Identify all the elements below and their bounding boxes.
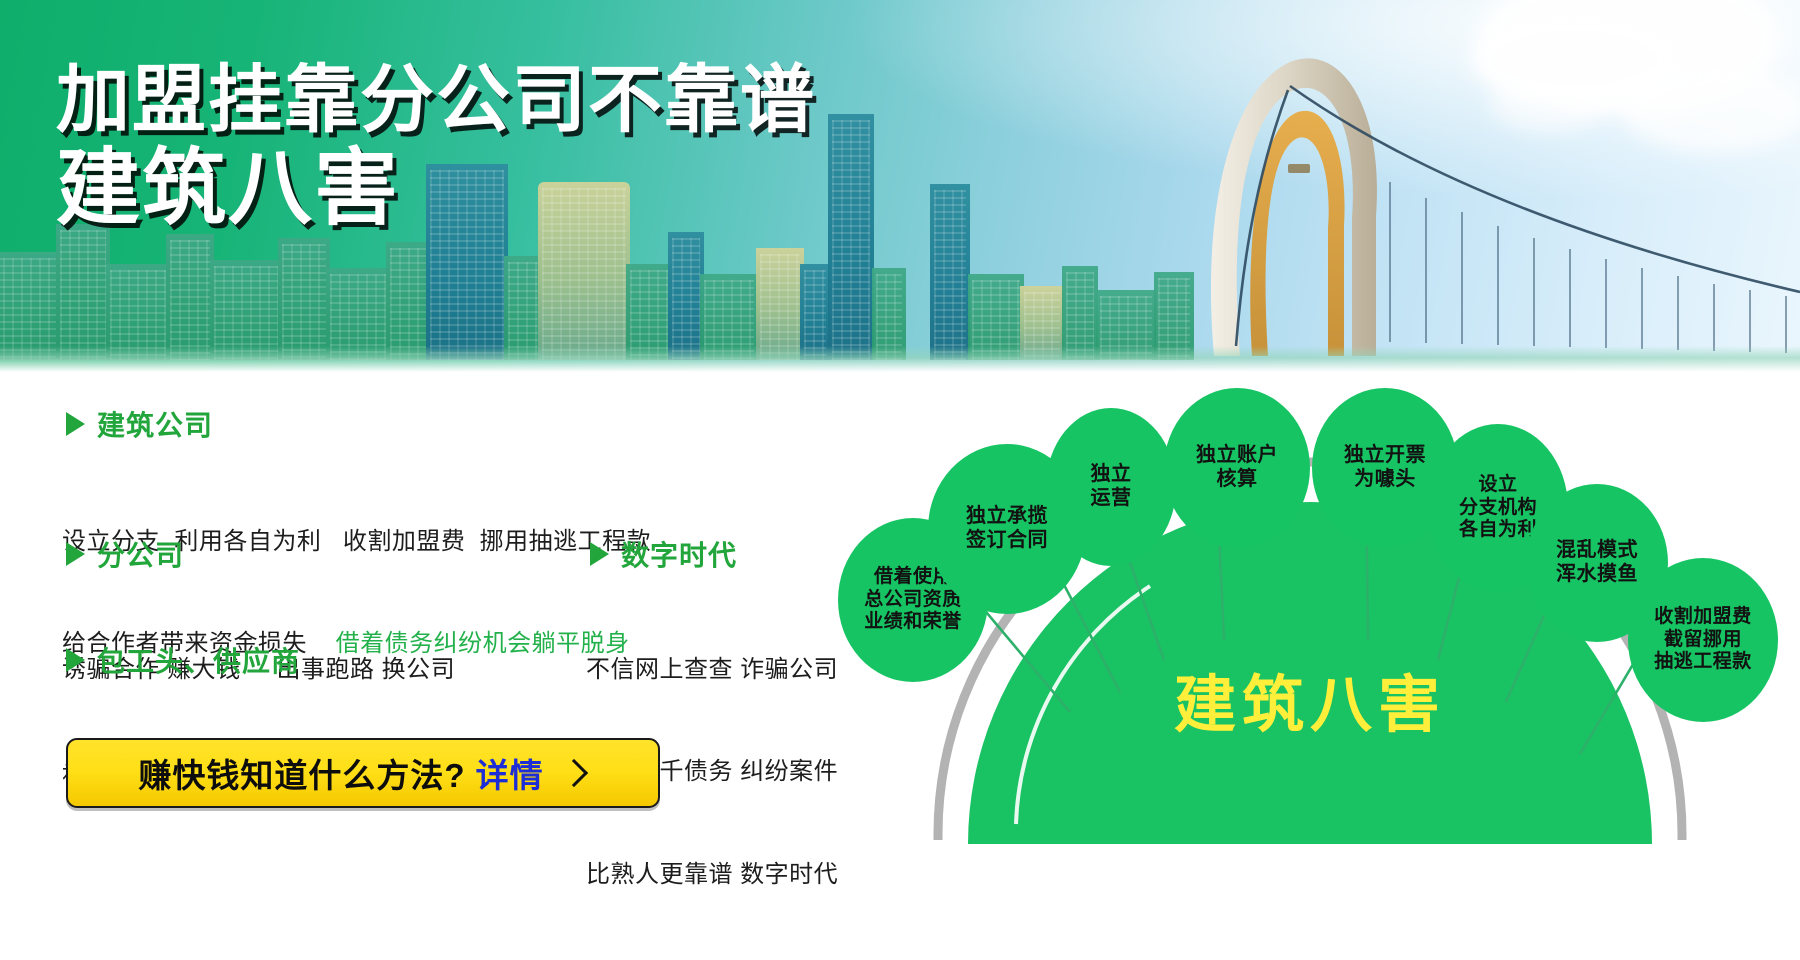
body-line: 比熟人更靠谱 数字时代 xyxy=(586,861,838,888)
triangle-bullet-icon xyxy=(66,648,85,672)
eight-harms-diagram: 借着使用 总公司资质 业绩和荣誉 独立承揽 签订合同 独立 运营 独立账户 核算… xyxy=(820,372,1800,844)
section-title: 建筑公司 xyxy=(97,404,213,444)
diagram-node-label: 独立 运营 xyxy=(1091,463,1132,510)
diagram-node-label: 独立账户 核算 xyxy=(1196,444,1278,491)
section-title: 分公司 xyxy=(97,534,184,574)
section-heading-construction-company: 建筑公司 xyxy=(66,404,213,444)
section-title: 包工头、供应商 xyxy=(97,640,300,680)
triangle-bullet-icon xyxy=(66,542,85,566)
diagram-center-label: 建筑八害 xyxy=(820,654,1800,744)
hero-banner: 加盟挂靠分公司不靠谱 建筑八害 xyxy=(0,0,1800,372)
hero-title-block: 加盟挂靠分公司不靠谱 建筑八害 xyxy=(56,62,816,232)
triangle-bullet-icon xyxy=(66,412,85,436)
bridge-illustration xyxy=(1140,46,1800,372)
diagram-node-label: 独立承揽 签订合同 xyxy=(966,505,1048,552)
details-cta-button[interactable]: 赚快钱知道什么方法? 详情 xyxy=(66,738,660,808)
cta-link-label: 详情 xyxy=(476,749,544,797)
diagram-node[interactable]: 独立账户 核算 xyxy=(1164,388,1310,548)
diagram-node-label: 设立 分支机构 各自为利 xyxy=(1459,474,1537,541)
section-title: 数字时代 xyxy=(621,534,737,574)
diagram-node-label: 混乱模式 浑水摸鱼 xyxy=(1556,539,1638,586)
poster-root: 加盟挂靠分公司不靠谱 建筑八害 建筑公司 设立分支 利用各自为利 收割加盟费 挪… xyxy=(0,0,1800,844)
diagram-node[interactable]: 独立 运营 xyxy=(1046,408,1176,566)
section-heading-contractor-supplier: 包工头、供应商 xyxy=(66,640,300,680)
hero-title-line2: 建筑八害 xyxy=(56,145,816,232)
body-line: 不信网上查查 诈骗公司 xyxy=(586,656,838,683)
cta-label: 赚快钱知道什么方法? xyxy=(138,749,465,797)
hero-bottom-fade xyxy=(0,346,1800,372)
chevron-right-icon xyxy=(559,759,587,787)
hero-title-line1: 加盟挂靠分公司不靠谱 xyxy=(56,62,816,139)
section-heading-branch-company: 分公司 xyxy=(66,534,184,574)
triangle-bullet-icon xyxy=(590,542,609,566)
section-heading-digital-era: 数字时代 xyxy=(590,534,737,574)
diagram-node-label: 独立开票 为噱头 xyxy=(1344,444,1426,491)
